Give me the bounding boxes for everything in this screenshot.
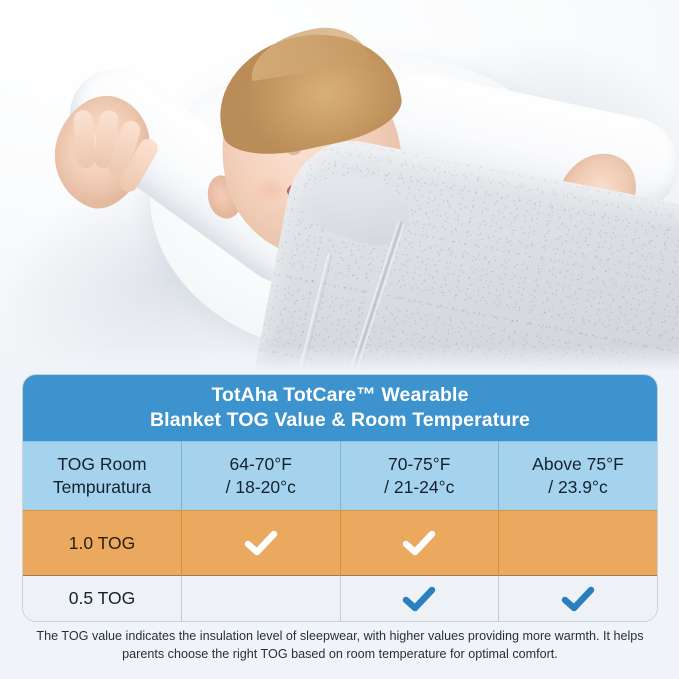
column-header-line-1: TOG Room xyxy=(23,453,181,476)
no-check-mark xyxy=(578,548,579,549)
cell-0-5-tog-70-75f xyxy=(340,576,499,622)
no-check-mark xyxy=(260,603,261,604)
finger xyxy=(73,110,96,169)
tog-explanation-note: The TOG value indicates the insulation l… xyxy=(22,628,658,664)
column-header-64-70f: 64-70°F / 18-20°c xyxy=(182,442,341,511)
column-header-line-1: 70-75°F xyxy=(341,453,499,476)
column-header-line-1: 64-70°F xyxy=(182,453,340,476)
column-header-line-2: Tempuratura xyxy=(23,476,181,499)
table-title: TotAha TotCare™ Wearable Blanket TOG Val… xyxy=(23,375,657,442)
column-header-line-2: / 23.9°c xyxy=(499,476,657,499)
tog-explanation-line-1: The TOG value indicates the insulation l… xyxy=(36,629,643,643)
table-title-line-2: Blanket TOG Value & Room Temperature xyxy=(23,408,657,433)
table-row: 1.0 TOG xyxy=(23,511,657,576)
cell-1-0-tog-64-70f xyxy=(182,511,341,576)
cell-1-0-tog-70-75f xyxy=(340,511,499,576)
column-header-line-2: / 18-20°c xyxy=(182,476,340,499)
check-icon xyxy=(402,529,436,557)
table-title-row: TotAha TotCare™ Wearable Blanket TOG Val… xyxy=(23,375,657,442)
table-title-line-1: TotAha TotCare™ Wearable xyxy=(23,383,657,408)
column-header-70-75f: 70-75°F / 21-24°c xyxy=(340,442,499,511)
tog-explanation-line-2: parents choose the right TOG based on ro… xyxy=(122,647,558,661)
column-header-above-75f: Above 75°F / 23.9°c xyxy=(499,442,658,511)
table-row: 0.5 TOG xyxy=(23,576,657,622)
column-header-line-1: Above 75°F xyxy=(499,453,657,476)
cell-1-0-tog-above-75f xyxy=(499,511,658,576)
check-icon xyxy=(561,585,595,613)
column-header-tog-room-temperature: TOG Room Tempuratura xyxy=(23,442,182,511)
table-header-row: TOG Room Tempuratura 64-70°F / 18-20°c 7… xyxy=(23,442,657,511)
cell-0-5-tog-above-75f xyxy=(499,576,658,622)
cell-0-5-tog-64-70f xyxy=(182,576,341,622)
check-icon xyxy=(244,529,278,557)
photo-bottom-fade xyxy=(0,346,679,372)
row-label-1-0-tog: 1.0 TOG xyxy=(23,511,182,576)
column-header-line-2: / 21-24°c xyxy=(341,476,499,499)
check-icon xyxy=(402,585,436,613)
product-photo xyxy=(0,0,679,372)
tog-comparison-table: TotAha TotCare™ Wearable Blanket TOG Val… xyxy=(22,374,658,622)
row-label-0-5-tog: 0.5 TOG xyxy=(23,576,182,622)
